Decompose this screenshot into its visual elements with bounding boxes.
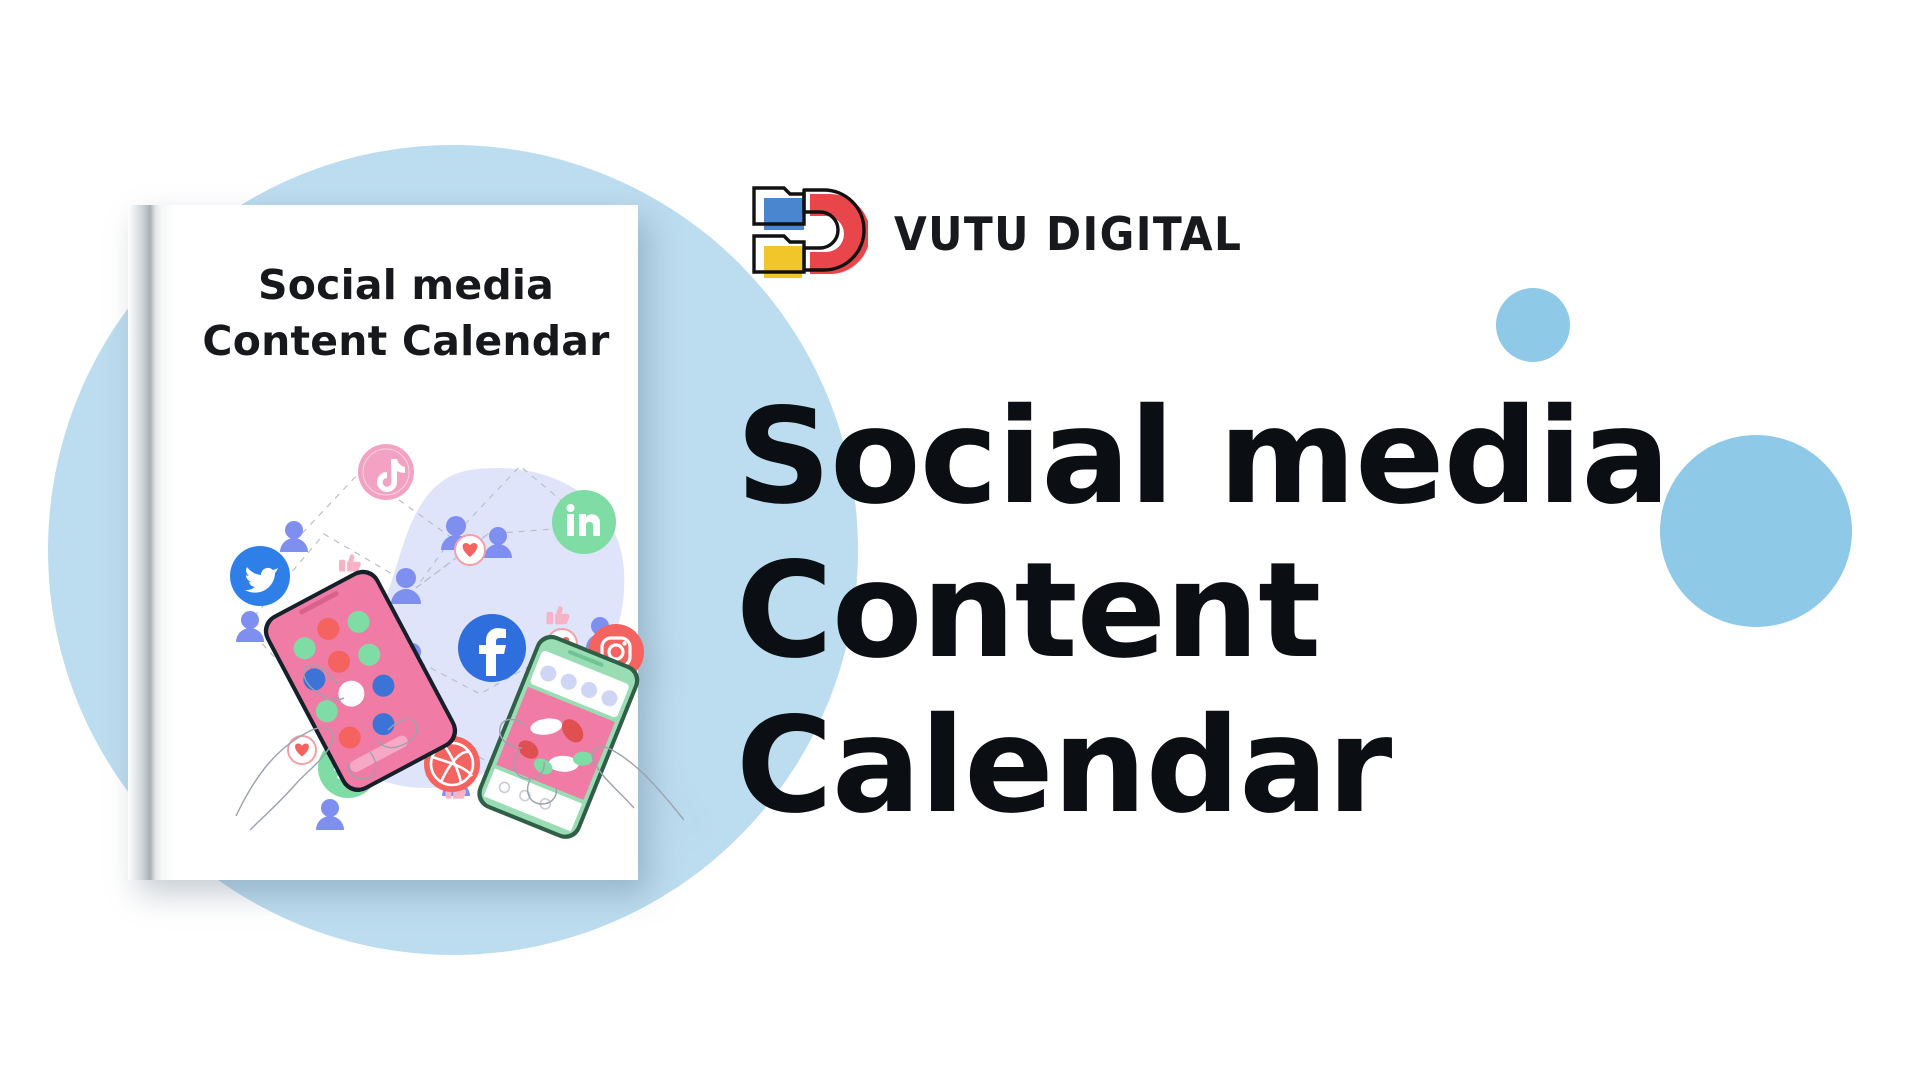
vutu-digital-logo [748, 182, 868, 286]
ebook-mockup: Social media Content Calendar [128, 205, 638, 880]
headline-line-1: Social media [736, 380, 1796, 534]
social-media-network-illustration [220, 430, 684, 850]
book-cover-title: Social media Content Calendar [174, 257, 638, 369]
brand-name: VUTU DIGITAL [894, 207, 1242, 261]
twitter-icon [230, 546, 290, 606]
small-accent-circle [1496, 288, 1570, 362]
book-cover-title-line1: Social media [258, 261, 554, 309]
tiktok-icon [358, 444, 414, 500]
headline-line-2: Content [736, 534, 1796, 688]
page-title: Social media Content Calendar [736, 380, 1796, 843]
book-cover-title-line2: Content Calendar [202, 317, 609, 365]
headline-line-3: Calendar [736, 689, 1796, 843]
facebook-icon [458, 614, 526, 682]
book-spine [128, 205, 174, 880]
linkedin-icon [552, 490, 616, 554]
book-cover: Social media Content Calendar [174, 205, 638, 880]
hero-banner: Social media Content Calendar [0, 0, 1920, 1080]
brand-lockup: VUTU DIGITAL [748, 182, 1273, 286]
